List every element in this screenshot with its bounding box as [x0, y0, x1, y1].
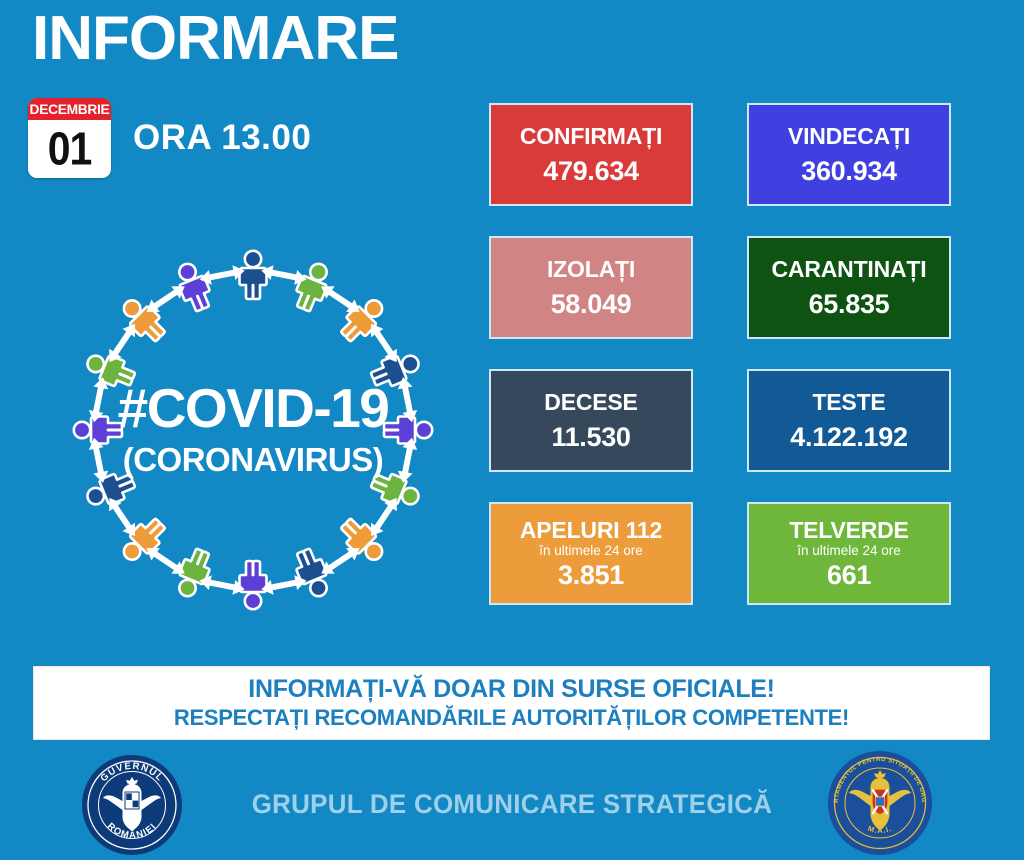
- stat-card-vindecati: VINDECAȚI 360.934: [747, 103, 951, 206]
- hour-label: ORA 13.00: [133, 118, 311, 158]
- stat-value-decese: 11.530: [551, 424, 630, 451]
- stat-subtitle-telverde: în ultimele 24 ore: [797, 544, 901, 559]
- stat-label-apeluri-112: APELURI 112: [520, 518, 662, 543]
- calendar-day-label: 01: [28, 117, 111, 178]
- stat-label-izolati: IZOLAȚI: [547, 257, 635, 282]
- dsu-mai-seal: DEPARTAMENTUL PENTRU SITUAȚII DE URGENȚĂ…: [828, 751, 932, 860]
- stat-label-decese: DECESE: [544, 390, 637, 415]
- covid-distancing-ring-graphic: #COVID-19 (CORONAVIRUS): [38, 215, 468, 645]
- stat-subtitle-apeluri-112: în ultimele 24 ore: [539, 544, 643, 559]
- footer: GUVERNUL ROMÂNIEI GRUPUL DE COMUNICARE S…: [0, 748, 1024, 860]
- stat-label-teste: TESTE: [812, 390, 885, 415]
- date-row: DECEMBRIE 01 ORA 13.00: [28, 98, 311, 178]
- notice-line-2: RESPECTAȚI RECOMANDĂRILE AUTORITĂȚILOR C…: [174, 705, 849, 730]
- stat-value-teste: 4.122.192: [790, 424, 907, 451]
- notice-line-1: INFORMAȚI-VĂ DOAR DIN SURSE OFICIALE!: [248, 675, 774, 704]
- statistics-grid: CONFIRMAȚI 479.634 VINDECAȚI 360.934 IZO…: [489, 103, 951, 605]
- calendar-icon: DECEMBRIE 01: [28, 98, 111, 178]
- stat-value-apeluri-112: 3.851: [558, 562, 624, 589]
- stat-card-apeluri-112: APELURI 112 în ultimele 24 ore 3.851: [489, 502, 693, 605]
- stat-label-confirmati: CONFIRMAȚI: [520, 124, 662, 149]
- page-title: INFORMARE: [32, 8, 398, 70]
- stat-label-vindecati: VINDECAȚI: [788, 124, 910, 149]
- stat-card-carantinati: CARANTINAȚI 65.835: [747, 236, 951, 339]
- official-sources-notice: INFORMAȚI-VĂ DOAR DIN SURSE OFICIALE! RE…: [33, 666, 990, 740]
- stat-card-confirmati: CONFIRMAȚI 479.634: [489, 103, 693, 206]
- stat-label-telverde: TELVERDE: [789, 518, 908, 543]
- stat-card-telverde: TELVERDE în ultimele 24 ore 661: [747, 502, 951, 605]
- stat-value-carantinati: 65.835: [809, 291, 890, 318]
- stat-value-telverde: 661: [827, 562, 871, 589]
- stat-value-vindecati: 360.934: [801, 158, 897, 185]
- stat-value-izolati: 58.049: [551, 291, 632, 318]
- stat-card-teste: TESTE 4.122.192: [747, 369, 951, 472]
- stat-card-izolati: IZOLAȚI 58.049: [489, 236, 693, 339]
- stat-label-carantinati: CARANTINAȚI: [772, 257, 927, 282]
- stat-value-confirmati: 479.634: [543, 158, 639, 185]
- stat-card-decese: DECESE 11.530: [489, 369, 693, 472]
